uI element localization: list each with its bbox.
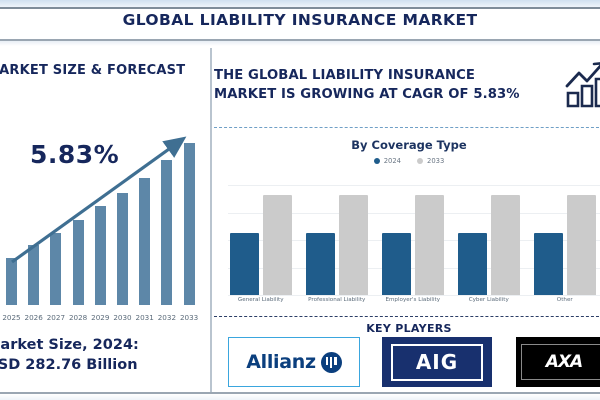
coverage-type-bar-chart <box>228 185 600 295</box>
legend-label: 2033 <box>427 157 444 165</box>
logo-aig-text: AIG <box>416 350 458 374</box>
growth-bar-chart-arrow-icon <box>565 62 600 108</box>
logo-axa-text: AXA <box>546 352 582 372</box>
dashed-divider-bottom <box>214 316 600 317</box>
cagr-headline-line1: THE GLOBAL LIABILITY INSURANCE <box>214 66 564 85</box>
forecast-year-label: 2028 <box>67 313 89 322</box>
market-forecast-bar-chart <box>0 130 212 305</box>
forecast-bar <box>6 258 17 306</box>
forecast-bar <box>139 178 150 306</box>
logo-allianz[interactable]: Allianz <box>228 337 360 387</box>
logo-allianz-text: Allianz <box>246 351 316 373</box>
logo-axa[interactable]: AXA <box>516 337 600 387</box>
market-size-forecast-label: MARKET SIZE & FORECAST <box>0 63 201 78</box>
page-title: GLOBAL LIABILITY INSURANCE MARKET <box>0 11 600 29</box>
forecast-year-label: 2026 <box>23 313 45 322</box>
legend-color-dot <box>374 158 380 164</box>
forecast-bar <box>28 245 39 305</box>
legend-label: 2024 <box>384 157 401 165</box>
logo-aig[interactable]: AIG <box>382 337 492 387</box>
coverage-bar <box>339 195 368 295</box>
forecast-year-label: 2025 <box>1 313 23 322</box>
forecast-year-label: 2027 <box>45 313 67 322</box>
forecast-year-label: 2032 <box>156 313 178 322</box>
coverage-bar <box>263 195 292 295</box>
coverage-bar <box>230 233 259 295</box>
forecast-bar <box>184 143 195 306</box>
legend-item[interactable]: 2024 <box>374 157 401 165</box>
coverage-category-label: Other <box>526 297 600 303</box>
coverage-category-label: Employer's Liability <box>374 297 452 303</box>
forecast-year-label: 2030 <box>112 313 134 322</box>
market-size-footnote: Market Size, 2024: USD 282.76 Billion <box>0 336 216 375</box>
bottom-soft-shadow <box>0 394 600 400</box>
forecast-year-label: 2033 <box>178 313 200 322</box>
legend-item[interactable]: 2033 <box>417 157 444 165</box>
gridline <box>228 295 600 296</box>
axa-frame: AXA <box>521 344 600 380</box>
coverage-bar <box>567 195 596 295</box>
coverage-category-label: Professional Liability <box>298 297 376 303</box>
forecast-year-label: 2031 <box>134 313 156 322</box>
coverage-bar <box>534 233 563 295</box>
gridline <box>228 185 600 186</box>
coverage-category-axis: General LiabilityProfessional LiabilityE… <box>228 297 600 309</box>
coverage-category-label: General Liability <box>222 297 300 303</box>
aig-frame: AIG <box>391 344 483 381</box>
forecast-bar <box>50 233 61 306</box>
top-gradient-band <box>0 0 600 7</box>
coverage-chart-legend: 20242033 <box>214 157 600 165</box>
coverage-bar <box>306 233 335 295</box>
coverage-bar <box>458 233 487 295</box>
cagr-headline: THE GLOBAL LIABILITY INSURANCE MARKET IS… <box>214 66 564 104</box>
vertical-divider <box>210 48 212 400</box>
market-size-footnote-line2: USD 282.76 Billion <box>0 356 216 376</box>
coverage-category-label: Cyber Liability <box>450 297 528 303</box>
coverage-bar <box>491 195 520 295</box>
forecast-bar <box>161 160 172 305</box>
infographic-canvas: GLOBAL LIABILITY INSURANCE MARKET MARKET… <box>0 0 600 400</box>
key-players-title: KEY PLAYERS <box>214 322 600 335</box>
cagr-headline-line2: MARKET IS GROWING AT CAGR OF 5.83% <box>214 85 564 104</box>
coverage-bar <box>382 233 411 295</box>
allianz-mark-icon <box>321 352 342 373</box>
forecast-bar <box>95 206 106 305</box>
forecast-year-axis: 202520262027202820292030203120322033 <box>0 308 212 322</box>
coverage-chart-title: By Coverage Type <box>214 138 600 152</box>
forecast-year-label: 2029 <box>89 313 111 322</box>
coverage-bar <box>415 195 444 295</box>
forecast-bar <box>73 220 84 305</box>
header-soft-shadow <box>0 41 600 46</box>
market-size-footnote-line1: Market Size, 2024: <box>0 336 216 356</box>
dashed-divider-top <box>214 127 600 128</box>
forecast-bar <box>117 193 128 306</box>
legend-color-dot <box>417 158 423 164</box>
